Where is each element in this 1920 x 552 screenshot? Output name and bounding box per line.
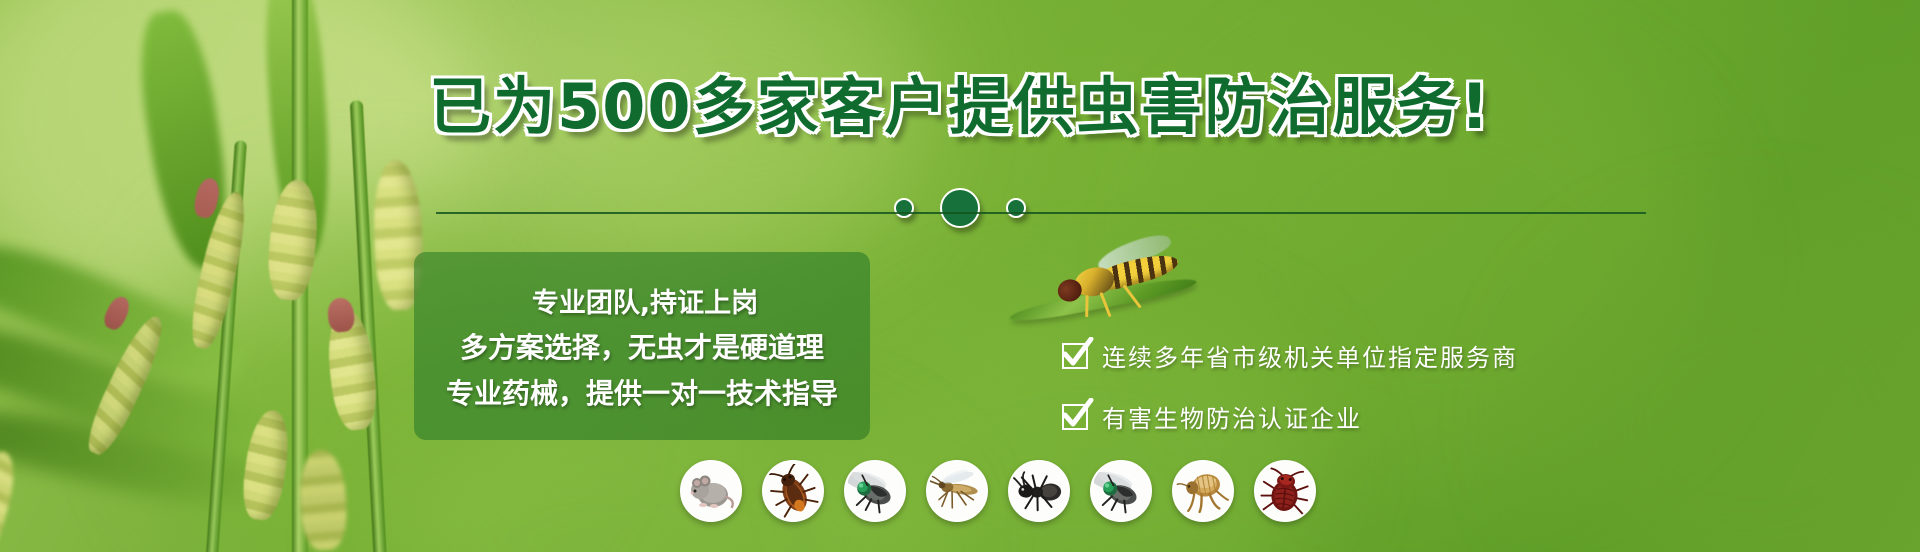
blowfly-icon[interactable] xyxy=(1090,460,1152,522)
check-mark-icon xyxy=(1062,343,1088,369)
cockroach-icon[interactable] xyxy=(762,460,824,522)
mosquito-icon[interactable] xyxy=(926,460,988,522)
mouse-icon[interactable] xyxy=(680,460,742,522)
slogan-line-2: 多方案选择，无虫才是硬道理 xyxy=(414,326,870,366)
pest-type-icon-row xyxy=(680,460,1316,522)
fly-icon[interactable] xyxy=(844,460,906,522)
divider xyxy=(436,212,1646,214)
checklist-label-2: 有害生物防治认证企业 xyxy=(1102,399,1362,434)
checklist-label-1: 连续多年省市级机关单位指定服务商 xyxy=(1102,338,1518,373)
decorative-dot-small-left xyxy=(894,198,914,218)
slogan-line-1: 专业团队,持证上岗 xyxy=(414,281,870,320)
decorative-dot-large-center xyxy=(940,188,980,228)
page-title: 已为500多家客户提供虫害防治服务! xyxy=(0,76,1920,138)
decorative-dots-group xyxy=(0,188,1920,228)
ant-icon[interactable] xyxy=(1008,460,1070,522)
certification-checklist: 连续多年省市级机关单位指定服务商 有害生物防治认证企业 xyxy=(1062,338,1518,434)
decorative-dot-small-right xyxy=(1006,198,1026,218)
check-mark-icon xyxy=(1062,404,1088,430)
bedbug-icon[interactable] xyxy=(1254,460,1316,522)
list-item: 连续多年省市级机关单位指定服务商 xyxy=(1062,338,1518,373)
slogan-line-3: 专业药械，提供一对一技术指导 xyxy=(414,372,870,412)
pest-control-hero-banner: 已为500多家客户提供虫害防治服务! 专业团队,持证上岗 多方案选择，无虫才是硬… xyxy=(0,0,1920,552)
slogan-panel: 专业团队,持证上岗 多方案选择，无虫才是硬道理 专业药械，提供一对一技术指导 xyxy=(414,252,870,440)
list-item: 有害生物防治认证企业 xyxy=(1062,399,1518,434)
flea-icon[interactable] xyxy=(1172,460,1234,522)
headline-text: 已为500多家客户提供虫害防治服务! xyxy=(429,70,1491,143)
